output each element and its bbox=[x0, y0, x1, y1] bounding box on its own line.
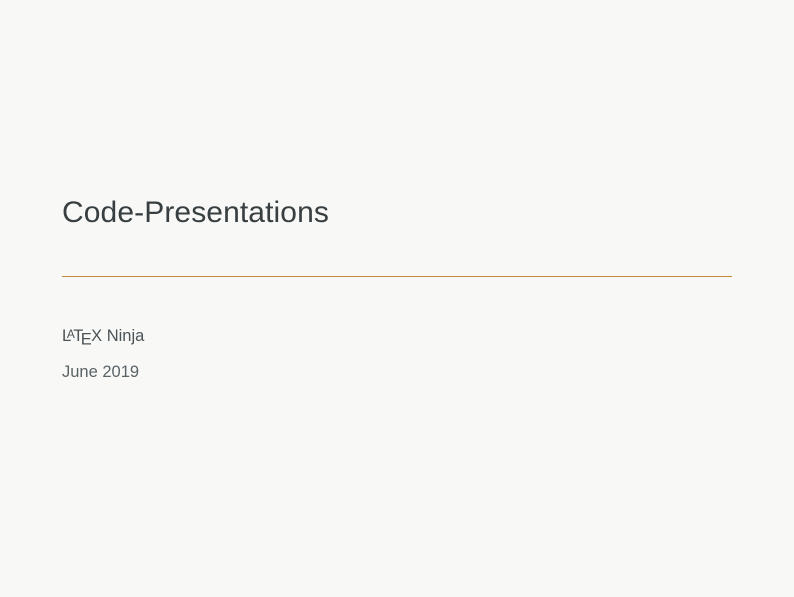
latex-logo: LATEX bbox=[62, 327, 102, 345]
title-divider bbox=[62, 276, 732, 277]
author-name: Ninja bbox=[102, 327, 144, 345]
latex-logo-t: T bbox=[73, 327, 80, 345]
page-title: Code-Presentations bbox=[62, 196, 732, 230]
author-line: LATEX Ninja bbox=[62, 328, 732, 348]
latex-logo-e: E bbox=[81, 331, 91, 349]
title-block: Code-Presentations bbox=[62, 196, 732, 230]
latex-logo-x: X bbox=[91, 327, 102, 345]
title-slide: Code-Presentations LATEX Ninja June 2019 bbox=[0, 0, 794, 597]
date-line: June 2019 bbox=[62, 364, 732, 381]
meta-block: LATEX Ninja June 2019 bbox=[62, 328, 732, 381]
